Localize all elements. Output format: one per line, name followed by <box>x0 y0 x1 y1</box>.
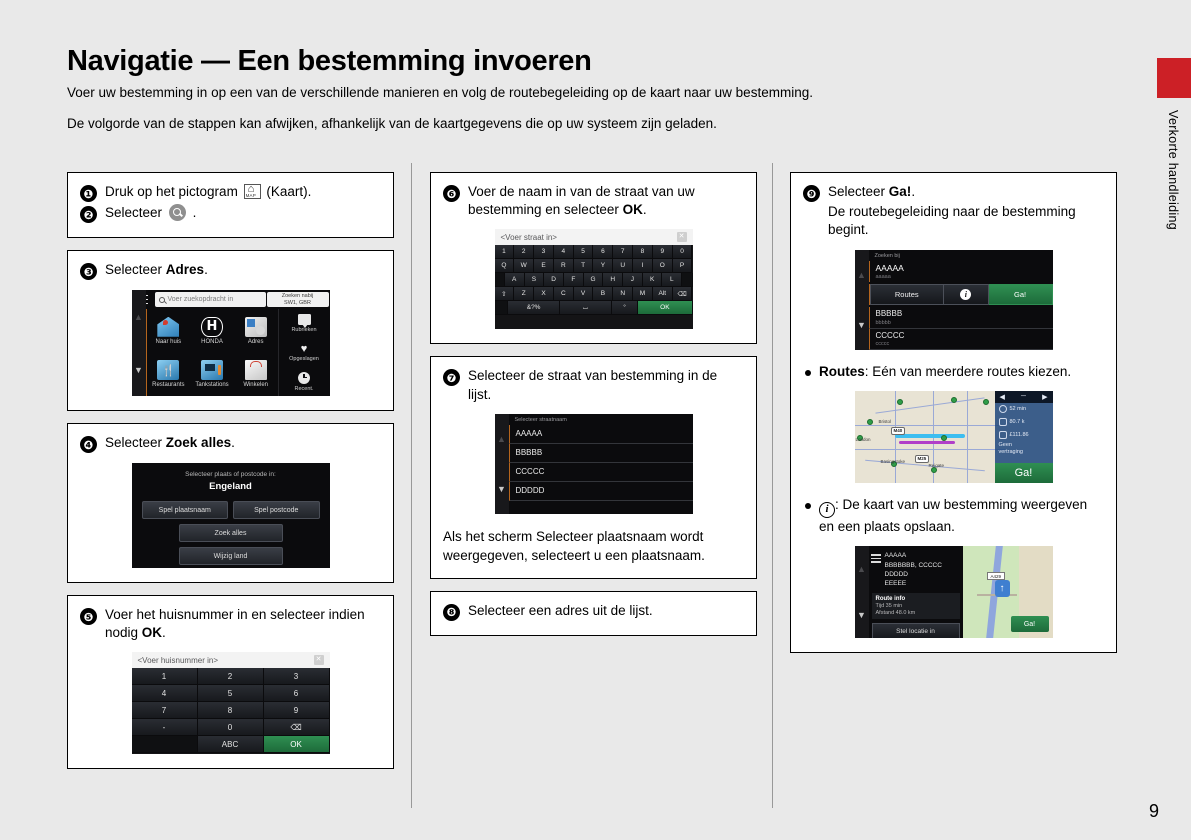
step-5-bold: OK <box>142 625 162 640</box>
nav-tile-grid: Naar huis HONDA Adres Restaurants <box>146 309 278 396</box>
step-box-3: ❸ Selecteer Adres. Voer zuekopdracht in … <box>67 250 394 411</box>
nav-search-placeholder: Voer zuekopdracht in <box>168 296 234 303</box>
next-route-icon[interactable]: ▶ <box>1042 393 1047 401</box>
column-divider-2 <box>772 163 773 808</box>
map-city-label: Basingstoke <box>881 459 906 464</box>
key-9[interactable]: 9 <box>264 702 330 719</box>
space-key[interactable]: ⌴ <box>560 301 612 315</box>
page-subtitle-2: De volgorde van de stappen kan afwijken,… <box>67 115 947 133</box>
nav-tile-label: Adres <box>248 339 264 345</box>
nav-tile-honda[interactable]: HONDA <box>190 309 234 353</box>
step-number-7: ❼ <box>443 369 460 386</box>
step-9-text-b: . <box>911 184 915 199</box>
shift-icon[interactable]: ⇧ <box>495 287 515 301</box>
key-5[interactable]: 5 <box>198 685 264 702</box>
step-7-note: Als het scherm Selecteer plaatsnaam word… <box>443 528 744 566</box>
key-letter[interactable]: A <box>505 273 525 287</box>
list-item[interactable]: DDDDD <box>509 482 693 501</box>
street-list-screenshot: ▲ ▼ Selecteer straatnaam AAAAA BBBBB CCC… <box>495 414 693 514</box>
routes-map-screenshot: Bristol London Basingstoke Reigate M40 M… <box>855 391 1053 483</box>
key-letter[interactable]: B <box>593 287 613 301</box>
spell-postcode-button[interactable]: Spel postcode <box>233 501 320 519</box>
result-item-title: CCCCC <box>876 331 1047 340</box>
nav-side-opgeslagen[interactable]: Opgeslagen <box>279 338 330 367</box>
nav-tile-adres[interactable]: Adres <box>234 309 278 353</box>
step-4-text-b: . <box>231 435 235 450</box>
key-letter[interactable]: J <box>623 273 643 287</box>
page-title: Navigatie — Een bestemming invoeren <box>67 45 947 78</box>
key-6[interactable]: 6 <box>264 685 330 702</box>
close-icon[interactable]: ✕ <box>314 655 324 665</box>
city-button-row: Spel plaatsnaam Spel postcode <box>142 501 320 519</box>
route-dash: ─ <box>1021 393 1026 400</box>
nav-region-line1: Zoeken nabij <box>282 293 314 300</box>
map-road <box>855 449 1005 451</box>
key-letter[interactable]: Q <box>495 259 515 273</box>
spell-city-button[interactable]: Spel plaatsnaam <box>142 501 229 519</box>
step-number-4: ❹ <box>80 436 97 453</box>
step-9-bold: Ga! <box>889 184 912 199</box>
key-letter[interactable]: T <box>574 259 594 273</box>
search-icon <box>169 204 186 221</box>
route-toll-row: £111.86 <box>995 429 1053 442</box>
route-info-distance: Afstand 48.0 km <box>876 610 956 616</box>
key-4[interactable]: 4 <box>132 685 198 702</box>
route-toll: £111.86 <box>1010 432 1029 438</box>
step-4-bold: Zoek alles <box>166 435 231 450</box>
address-line-1: AAAAA <box>885 551 959 560</box>
nav-body: ▲ ▼ Naar huis HONDA <box>132 309 330 396</box>
step-6-text-a: Voer de naam in van de straat van uw bes… <box>468 184 695 217</box>
step-1-text-a: Druk op het pictogram <box>105 184 238 199</box>
column-divider-1 <box>411 163 412 808</box>
nav-side-label: Recent. <box>295 386 314 392</box>
key-letter[interactable]: E <box>534 259 554 273</box>
routes-button[interactable]: Routes <box>870 284 945 305</box>
list-item[interactable]: BBBBB bbbbb <box>869 307 1053 329</box>
step-2-text-a: Selecteer <box>105 205 162 220</box>
result-item-sub: ccccc <box>876 341 1047 347</box>
nav-scroll-rail[interactable]: ▲ ▼ <box>132 290 146 396</box>
key-num[interactable]: 9 <box>653 245 673 259</box>
step-7-text: Selecteer de straat van bestemming in de… <box>468 367 744 403</box>
step-box-7: ❼ Selecteer de straat van bestemming in … <box>430 356 757 578</box>
map-marker <box>951 397 957 403</box>
result-body: AAAAA aaaaa <box>869 261 1053 283</box>
heart-icon <box>298 343 311 354</box>
step-6: ❻ Voer de naam in van de straat van uw b… <box>443 183 744 219</box>
step-3-text-b: . <box>204 262 208 277</box>
result-item-sub: aaaaa <box>876 274 1047 280</box>
key-letter[interactable]: U <box>613 259 633 273</box>
backspace-icon[interactable]: ⌫ <box>264 719 330 736</box>
key-letter[interactable]: V <box>574 287 594 301</box>
step-3: ❸ Selecteer Adres. <box>80 261 381 280</box>
set-location-button[interactable]: Stel locatie in <box>872 623 960 638</box>
map-marker <box>867 419 873 425</box>
key-letter[interactable]: N <box>613 287 633 301</box>
step-4-text-a: Selecteer <box>105 435 166 450</box>
page-subtitle-1: Voer uw bestemming in op een van de vers… <box>67 84 947 102</box>
nav-tile-label: HONDA <box>201 339 223 345</box>
nav-home-screenshot: Voer zuekopdracht in Zoeken nabij SW1, G… <box>132 290 330 396</box>
list-item[interactable]: AAAAA <box>509 425 693 444</box>
key-symbols[interactable]: &?% <box>508 301 560 315</box>
nav-tile-winkelen[interactable]: Winkelen <box>234 353 278 397</box>
key-pad <box>495 273 505 287</box>
route-info-box[interactable]: Route info Tijd 35 min Afstand 48.0 km <box>872 593 960 619</box>
step-1: ❶ Druk op het pictogram (Kaart). <box>80 183 381 202</box>
step-box-9: ❾ Selecteer Ga!. De routebegeleiding naa… <box>790 172 1117 653</box>
section-tab-label: Verkorte handleiding <box>1166 110 1180 230</box>
route-line-blue <box>895 434 965 438</box>
column-two: ❻ Voer de naam in van de straat van uw b… <box>430 172 757 648</box>
step-3-bold: Adres <box>166 262 204 277</box>
step-1-text: Druk op het pictogram (Kaart). <box>105 183 381 201</box>
key-letter[interactable]: O <box>653 259 673 273</box>
map-icon <box>244 184 261 199</box>
address-icon <box>245 317 267 337</box>
address-line-4: EEEEE <box>885 579 959 588</box>
scroll-up-icon[interactable]: ▲ <box>134 312 143 322</box>
scroll-up-icon[interactable]: ▲ <box>857 270 866 280</box>
key-letter[interactable]: P <box>673 259 693 273</box>
step-number-8: ❽ <box>443 604 460 621</box>
nav-side-rubrieken[interactable]: Rubrieken <box>279 309 330 338</box>
search-result-screenshot: ▲ ▼ Zoeken bij AAAAA aaaaa Routes i Ga! <box>855 250 1053 350</box>
destination-map-area[interactable]: A429 Ga! <box>963 546 1053 638</box>
page-number: 9 <box>1149 801 1159 822</box>
distance-icon <box>999 418 1007 426</box>
restaurant-icon <box>157 360 179 380</box>
category-icon <box>298 314 311 325</box>
step-5-text: Voer het huisnummer in en selecteer indi… <box>105 606 381 642</box>
column-one: ❶ Druk op het pictogram (Kaart). ❷ Selec… <box>67 172 394 781</box>
keyboard-row-numbers: 1 2 3 4 5 6 7 8 9 0 <box>495 245 693 259</box>
keyboard-row-bottom: &?% ⌴ ° OK <box>495 301 693 315</box>
key-2[interactable]: 2 <box>198 668 264 685</box>
key-num[interactable]: 6 <box>593 245 613 259</box>
step-number-3: ❸ <box>80 263 97 280</box>
step-number-1: ❶ <box>80 185 97 202</box>
key-ok[interactable]: OK <box>638 301 692 315</box>
honda-icon <box>201 317 223 337</box>
map-road <box>855 425 1005 427</box>
step-4-text: Selecteer Zoek alles. <box>105 434 381 452</box>
key-letter[interactable]: X <box>534 287 554 301</box>
page-header: Navigatie — Een bestemming invoeren Voer… <box>67 45 947 133</box>
nav-tile-label: Naar huis <box>155 339 181 345</box>
step-7: ❼ Selecteer de straat van bestemming in … <box>443 367 744 403</box>
housenumber-placeholder: <Voer huisnummer in> <box>138 656 219 665</box>
city-postcode-screenshot: Selecteer plaats of postcode in: Engelan… <box>132 463 330 568</box>
key-letter[interactable]: R <box>554 259 574 273</box>
bullet-info-text: i: De kaart van uw bestemming weergeven … <box>819 496 1104 536</box>
result-action-row: Routes i Ga! <box>869 284 1053 305</box>
key-ok[interactable]: OK <box>264 736 330 753</box>
shopping-icon <box>245 360 267 380</box>
mic-icon[interactable]: ° <box>612 301 638 315</box>
key-letter[interactable]: D <box>544 273 564 287</box>
street-list-header: Selecteer straatnaam <box>495 414 693 425</box>
dest-scroll-rail[interactable]: ▲ ▼ <box>855 546 869 638</box>
bullet-info: i: De kaart van uw bestemming weergeven … <box>805 496 1104 536</box>
key-letter[interactable]: C <box>554 287 574 301</box>
key-letter[interactable]: G <box>584 273 604 287</box>
section-tab: Verkorte handleiding <box>1157 58 1191 230</box>
prev-route-icon[interactable]: ◀ <box>1000 393 1005 401</box>
address-line-3: DDDDD <box>885 570 959 579</box>
step-9-text-a: Selecteer <box>828 184 889 199</box>
result-item-sub: bbbbb <box>876 320 1047 326</box>
step-number-2: ❷ <box>80 206 97 223</box>
backspace-icon[interactable]: ⌫ <box>673 287 693 301</box>
bullet-icon <box>805 503 811 509</box>
key-pad <box>682 273 692 287</box>
key-num[interactable]: 3 <box>534 245 554 259</box>
nav-tile-label: Tankstations <box>195 382 228 388</box>
key-abc[interactable]: ABC <box>198 736 264 753</box>
key-num[interactable]: 5 <box>574 245 594 259</box>
step-8-text: Selecteer een adres uit de lijst. <box>468 602 744 620</box>
step-3-text-a: Selecteer <box>105 262 166 277</box>
step-1-text-b: (Kaart). <box>266 184 311 199</box>
scroll-down-icon[interactable]: ▼ <box>857 320 866 330</box>
qwerty-keyboard-screenshot: <Voer straat in> ✕ 1 2 3 4 5 6 7 8 9 0 Q <box>495 229 693 329</box>
step-box-8: ❽ Selecteer een adres uit de lijst. <box>430 591 757 636</box>
key-num[interactable]: 4 <box>554 245 574 259</box>
key-letter[interactable]: H <box>603 273 623 287</box>
result-item-title: AAAAA <box>876 263 1047 273</box>
scroll-down-icon[interactable]: ▼ <box>134 365 143 375</box>
column-three: ❾ Selecteer Ga!. De routebegeleiding naa… <box>790 172 1117 665</box>
step-3-text: Selecteer Adres. <box>105 261 381 279</box>
nav-region-line2: SW1, GBR <box>284 300 311 307</box>
nav-tile-naar-huis[interactable]: Naar huis <box>147 309 191 353</box>
route-info-title: Route info <box>876 596 956 602</box>
key-8[interactable]: 8 <box>198 702 264 719</box>
map-road-label: A429 <box>987 572 1006 580</box>
step-6-bold: OK <box>623 202 643 217</box>
map-city-label: Bristol <box>879 419 892 424</box>
numeric-keys: 1 2 3 4 5 6 7 8 9 - 0 ⌫ ABC OK <box>132 668 330 753</box>
result-header: Zoeken bij <box>855 250 1053 261</box>
destination-detail-panel: ▲ ▼ AAAAA BBBBBBB, CCCCC DDDDD EEEEE Rou… <box>855 546 963 638</box>
change-country-button[interactable]: Wijzig land <box>179 547 283 565</box>
key-alt[interactable]: Alt <box>653 287 673 301</box>
step-box-4: ❹ Selecteer Zoek alles. Selecteer plaats… <box>67 423 394 583</box>
nav-topbar: Voer zuekopdracht in Zoeken nabij SW1, G… <box>132 290 330 309</box>
go-button[interactable]: Ga! <box>995 463 1053 483</box>
nav-side-column: Rubrieken Opgeslagen Recent. <box>278 309 330 396</box>
bullet-icon <box>805 370 811 376</box>
search-all-button[interactable]: Zoek alles <box>179 524 283 542</box>
list-scroll-rail[interactable]: ▲ ▼ <box>495 414 509 514</box>
map-road-badge: M25 <box>915 455 930 463</box>
route-delay-block: Geen vertraging <box>995 442 1053 456</box>
map-marker <box>897 399 903 405</box>
route-delay-2: vertraging <box>999 449 1049 456</box>
step-2-text: Selecteer . <box>105 204 381 222</box>
list-item[interactable]: BBBBB <box>509 444 693 463</box>
list-item[interactable]: CCCCC ccccc <box>869 329 1053 350</box>
key-7[interactable]: 7 <box>132 702 198 719</box>
menu-icon[interactable] <box>871 554 881 563</box>
step-box-1-2: ❶ Druk op het pictogram (Kaart). ❷ Selec… <box>67 172 394 238</box>
scroll-down-icon[interactable]: ▼ <box>857 610 866 620</box>
step-5-text-b: . <box>162 625 166 640</box>
key-blank <box>132 736 198 753</box>
key-1[interactable]: 1 <box>132 668 198 685</box>
info-icon: i <box>819 502 835 518</box>
bullet-routes-rest: : Eén van meerdere routes kiezen. <box>865 364 1071 379</box>
home-icon <box>157 317 179 337</box>
result-body-rest: BBBBB bbbbb CCCCC ccccc <box>869 307 1053 350</box>
routes-info-panel: ◀ ─ ▶ 52 min 80.7 k £111.86 <box>995 391 1053 483</box>
key-3[interactable]: 3 <box>264 668 330 685</box>
key-letter[interactable]: M <box>633 287 653 301</box>
nav-region-button[interactable]: Zoeken nabij SW1, GBR <box>267 292 329 307</box>
manual-page: Navigatie — Een bestemming invoeren Voer… <box>0 0 1191 840</box>
destination-map-screenshot: ▲ ▼ AAAAA BBBBBBB, CCCCC DDDDD EEEEE Rou… <box>855 546 1053 638</box>
key-num[interactable]: 2 <box>514 245 534 259</box>
nav-tile-restaurants[interactable]: Restaurants <box>147 353 191 397</box>
search-icon <box>159 297 165 303</box>
route-line-purple <box>899 441 955 444</box>
fuel-icon <box>201 360 223 380</box>
scroll-down-icon[interactable]: ▼ <box>497 484 506 494</box>
result-item-title: BBBBB <box>876 309 1047 318</box>
result-item-selected[interactable]: AAAAA aaaaa <box>869 261 1053 283</box>
route-delay-1: Geen <box>999 442 1049 449</box>
step-9: ❾ Selecteer Ga!. De routebegeleiding naa… <box>803 183 1104 240</box>
step-6-text-b: . <box>643 202 647 217</box>
step-5: ❺ Voer het huisnummer in en selecteer in… <box>80 606 381 642</box>
step-2: ❷ Selecteer . <box>80 204 381 223</box>
clock-icon <box>999 405 1007 413</box>
map-road-badge: M40 <box>891 427 906 435</box>
step-9-text: Selecteer Ga!. De routebegeleiding naar … <box>828 183 1104 240</box>
step-number-5: ❺ <box>80 608 97 625</box>
key-dash[interactable]: - <box>132 719 198 736</box>
step-box-6: ❻ Voer de naam in van de straat van uw b… <box>430 172 757 344</box>
street-input[interactable]: <Voer straat in> ✕ <box>495 229 693 245</box>
key-letter[interactable]: S <box>525 273 545 287</box>
key-letter[interactable]: F <box>564 273 584 287</box>
key-letter[interactable]: K <box>643 273 663 287</box>
key-num[interactable]: 7 <box>613 245 633 259</box>
map-marker <box>941 435 947 441</box>
key-letter[interactable]: L <box>662 273 682 287</box>
map-city-label: Reigate <box>929 463 945 468</box>
list-item[interactable]: CCCCC <box>509 463 693 482</box>
key-pad <box>495 301 509 315</box>
route-time-row: 52 min <box>995 403 1053 416</box>
routes-panel-nav: ◀ ─ ▶ <box>995 391 1053 403</box>
key-num[interactable]: 0 <box>673 245 693 259</box>
scroll-up-icon[interactable]: ▲ <box>857 564 866 574</box>
route-distance: 80.7 k <box>1010 419 1025 425</box>
nav-side-label: Opgeslagen <box>289 356 319 362</box>
key-num[interactable]: 1 <box>495 245 515 259</box>
info-icon: i <box>960 289 971 300</box>
key-letter[interactable]: Z <box>514 287 534 301</box>
info-button[interactable]: i <box>944 284 989 305</box>
bullet-routes-bold: Routes <box>819 364 865 379</box>
key-letter[interactable]: W <box>514 259 534 273</box>
step-number-9: ❾ <box>803 185 820 202</box>
route-time: 52 min <box>1010 406 1027 412</box>
step-8: ❽ Selecteer een adres uit de lijst. <box>443 602 744 621</box>
keyboard-row-zxcv: ⇧ Z X C V B N M Alt ⌫ <box>495 287 693 301</box>
go-button[interactable]: Ga! <box>989 284 1053 305</box>
section-tab-color-block <box>1157 58 1191 98</box>
destination-address: AAAAA BBBBBBB, CCCCC DDDDD EEEEE <box>869 546 963 589</box>
nav-tile-tankstations[interactable]: Tankstations <box>190 353 234 397</box>
step-4: ❹ Selecteer Zoek alles. <box>80 434 381 453</box>
nav-search-input[interactable]: Voer zuekopdracht in <box>155 292 266 307</box>
step-6-text: Voer de naam in van de straat van uw bes… <box>468 183 744 219</box>
number-keypad-screenshot: <Voer huisnummer in> ✕ 1 2 3 4 5 6 7 8 9… <box>132 652 330 754</box>
toll-icon <box>999 431 1007 439</box>
key-letter[interactable]: Y <box>593 259 613 273</box>
housenumber-input[interactable]: <Voer huisnummer in> ✕ <box>132 652 330 668</box>
step-box-5: ❺ Voer het huisnummer in en selecteer in… <box>67 595 394 769</box>
map-marker <box>983 399 989 405</box>
address-line-2: BBBBBBB, CCCCC <box>885 561 959 570</box>
result-scroll-rail[interactable]: ▲ ▼ <box>855 250 869 350</box>
key-letter[interactable]: I <box>633 259 653 273</box>
bullet-info-rest: : De kaart van uw bestemming weergeven e… <box>819 497 1087 534</box>
key-0[interactable]: 0 <box>198 719 264 736</box>
city-prompt: Selecteer plaats of postcode in: <box>142 471 320 478</box>
bullet-routes-text: Routes: Eén van meerdere routes kiezen. <box>819 363 1071 381</box>
step-9-text-c: De routebegeleiding naar de bestemming b… <box>828 203 1104 239</box>
nav-tile-label: Restaurants <box>152 382 184 388</box>
street-list-body: AAAAA BBBBB CCCCC DDDDD <box>495 425 693 501</box>
route-distance-row: 80.7 k <box>995 416 1053 429</box>
bullet-routes: Routes: Eén van meerdere routes kiezen. <box>805 363 1104 381</box>
keyboard-row-asdf: A S D F G H J K L <box>495 273 693 287</box>
step-number-6: ❻ <box>443 185 460 202</box>
street-placeholder: <Voer straat in> <box>501 233 557 242</box>
route-info-time: Tijd 35 min <box>876 603 956 609</box>
close-icon[interactable]: ✕ <box>677 232 687 242</box>
destination-marker <box>995 580 1010 597</box>
key-num[interactable]: 8 <box>633 245 653 259</box>
go-button[interactable]: Ga! <box>1011 616 1049 632</box>
step-2-text-b: . <box>193 205 197 220</box>
keyboard-row-qwerty: Q W E R T Y U I O P <box>495 259 693 273</box>
city-country: Engeland <box>142 481 320 492</box>
nav-side-recent[interactable]: Recent. <box>279 367 330 396</box>
nav-tile-label: Winkelen <box>243 382 268 388</box>
scroll-up-icon[interactable]: ▲ <box>497 434 506 444</box>
map-city-label: London <box>856 437 871 442</box>
clock-icon <box>298 372 310 384</box>
